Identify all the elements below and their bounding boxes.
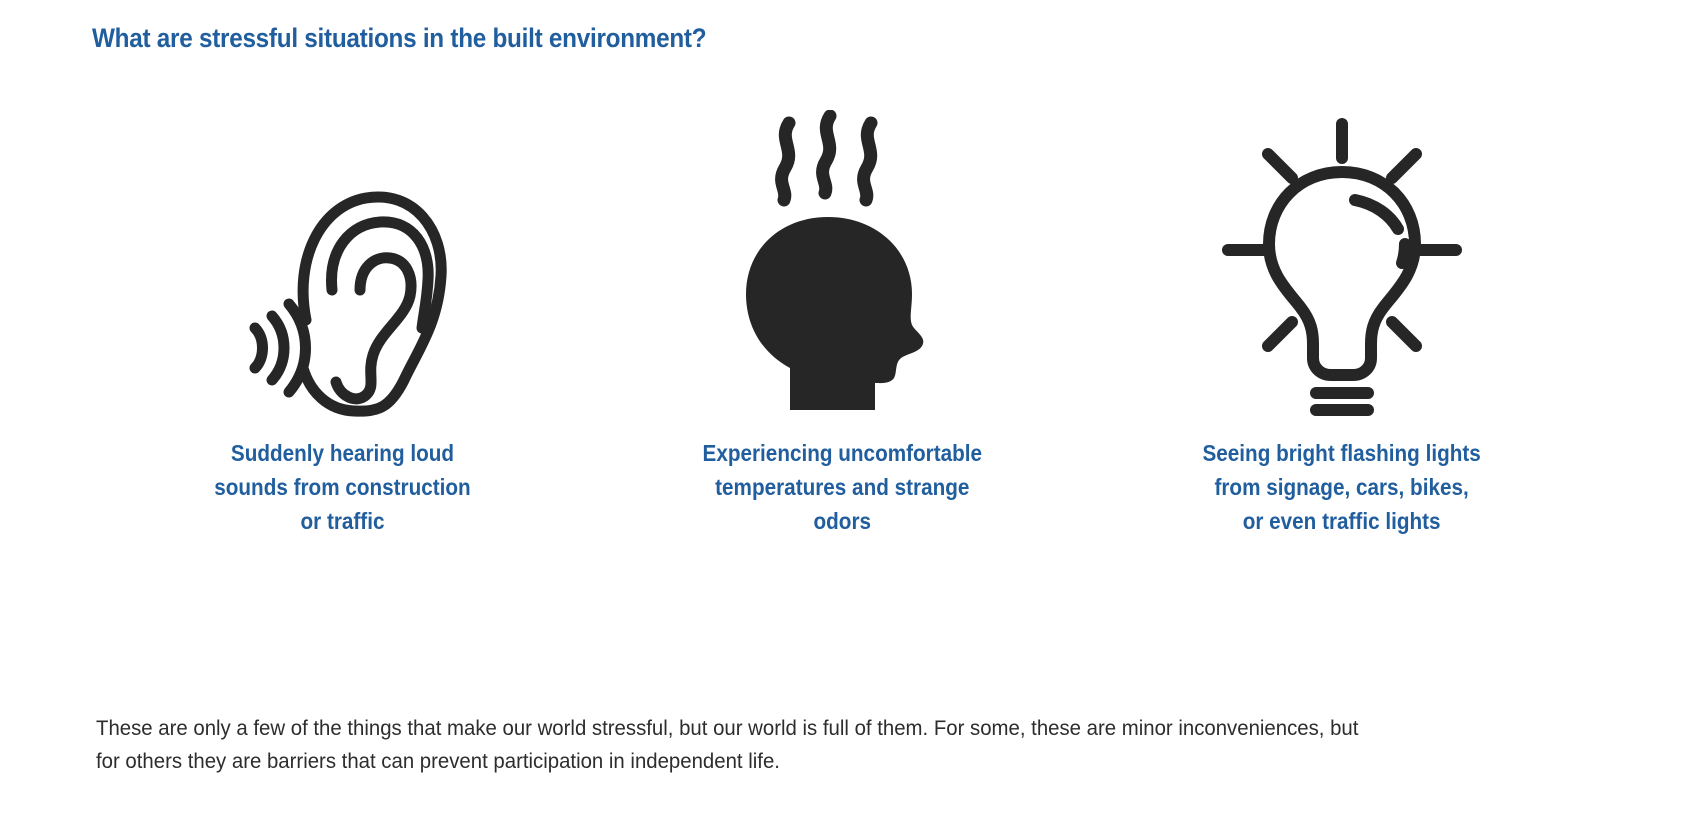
stressor-card-temperature: Experiencing uncomfortable temperatures … bbox=[592, 100, 1092, 538]
lightbulb-rays-icon bbox=[1092, 100, 1592, 430]
stressor-caption-hearing: Suddenly hearing loud sounds from constr… bbox=[214, 436, 470, 538]
stressor-card-row: Suddenly hearing loud sounds from constr… bbox=[92, 100, 1592, 600]
stressor-card-lighting: Seeing bright flashing lights from signa… bbox=[1092, 100, 1592, 538]
page-title: What are stressful situations in the bui… bbox=[92, 22, 706, 54]
stressor-caption-temperature: Experiencing uncomfortable temperatures … bbox=[702, 436, 982, 538]
stressor-card-hearing: Suddenly hearing loud sounds from constr… bbox=[92, 100, 592, 538]
stressor-caption-lighting: Seeing bright flashing lights from signa… bbox=[1203, 436, 1481, 538]
head-heat-waves-icon bbox=[592, 100, 1092, 430]
ear-hearing-icon bbox=[92, 100, 592, 430]
footer-paragraph: These are only a few of the things that … bbox=[96, 712, 1372, 778]
